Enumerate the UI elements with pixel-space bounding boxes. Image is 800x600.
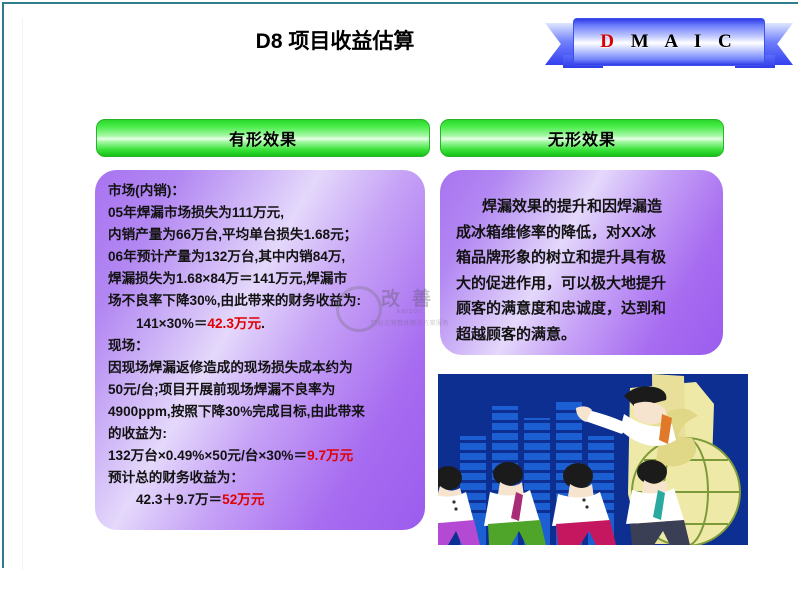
text-line-body: 50元/台;项目开展前现场焊漏不良率为 (108, 382, 335, 397)
text-line-body: 的收益为: (108, 426, 167, 441)
header-pill-intangible-label: 无形效果 (548, 126, 616, 150)
text-line: 06年预计产量为132万台,其中内销84万, (108, 246, 365, 268)
text-line: 预计总的财务收益为： (108, 467, 365, 489)
highlighted-value: 42.3万元 (207, 316, 261, 331)
slide-frame-left-border (2, 2, 4, 568)
intangible-effects-panel: 焊漏效果的提升和因焊漏造成冰箱维修率的降低，对XX冰箱品牌形象的树立和提升具有极… (440, 170, 723, 355)
text-line-body: 预计总的财务收益为： (108, 470, 244, 485)
dmaic-label: D M A I C (600, 31, 737, 53)
text-line: 大的促进作用，可以极大地提升 (456, 271, 708, 297)
text-line-body: 05年焊漏市场损失为111万元, (108, 205, 284, 220)
text-line: 焊漏效果的提升和因焊漏造 (456, 194, 708, 220)
text-line-body: 因现场焊漏返修造成的现场损失成本约为 (108, 360, 353, 375)
highlighted-value: 9.7万元 (307, 448, 353, 463)
text-line: 50元/台;项目开展前现场焊漏不良率为 (108, 379, 365, 401)
header-pill-tangible[interactable]: 有形效果 (96, 119, 430, 157)
text-line: 因现场焊漏返修造成的现场损失成本约为 (108, 357, 365, 379)
text-line: 超越顾客的满意。 (456, 322, 708, 348)
text-line: 成冰箱维修率的降低，对XX冰 (456, 220, 708, 246)
text-line-body: 132万台×0.49%×50元/台×30%＝ (108, 448, 307, 463)
text-line: 市场(内销)： (108, 180, 365, 202)
text-line-body: 06年预计产量为132万台,其中内销84万, (108, 249, 345, 264)
text-line-body: 内销产量为66万台,平均单台损失1.68元； (108, 227, 357, 242)
slide-frame-top-border (2, 2, 798, 4)
text-line-body: 现场： (108, 338, 149, 353)
text-line-body: 顾客的满意度和忠诚度，达到和 (456, 300, 666, 317)
text-line-body: 超越顾客的满意。 (456, 326, 576, 343)
slide-canvas: D8 项目收益估算 D M A I C 有形效果 无形效果 市场(内销)：05年… (0, 0, 800, 600)
text-line-body: 141×30%＝ (136, 316, 207, 331)
text-line-body: 42.3＋9.7万＝ (136, 492, 222, 507)
text-line: 焊漏损失为1.68×84万＝141万元,焊漏市 (108, 268, 365, 290)
text-line: 的收益为: (108, 423, 365, 445)
text-line: 05年焊漏市场损失为111万元, (108, 202, 365, 224)
tangible-effects-text: 市场(内销)：05年焊漏市场损失为111万元,内销产量为66万台,平均单台损失1… (108, 180, 365, 511)
text-line: 箱品牌形象的树立和提升具有极 (456, 245, 708, 271)
text-line: 场不良率下降30%,由此带来的财务收益为: (108, 290, 365, 312)
text-line: 4900ppm,按照下降30%完成目标,由此带来 (108, 401, 365, 423)
text-line: 顾客的满意度和忠诚度，达到和 (456, 296, 708, 322)
ribbon-body: D M A I C (573, 18, 765, 66)
text-line-suffix: . (261, 316, 265, 331)
text-line-body: 箱品牌形象的树立和提升具有极 (456, 249, 666, 266)
text-line-body: 大的促进作用，可以极大地提升 (456, 275, 666, 292)
business-illustration (438, 374, 748, 545)
text-line: 42.3＋9.7万＝52万元 (108, 489, 365, 511)
header-pill-intangible[interactable]: 无形效果 (440, 119, 724, 157)
text-line-body: 成冰箱维修率的降低，对XX冰 (456, 224, 656, 241)
text-line: 内销产量为66万台,平均单台损失1.68元； (108, 224, 365, 246)
page-title: D8 项目收益估算 (170, 25, 500, 55)
dmaic-letter-d: D (600, 31, 620, 52)
text-line-body: 市场(内销)： (108, 183, 185, 198)
tangible-effects-panel: 市场(内销)：05年焊漏市场损失为111万元,内销产量为66万台,平均单台损失1… (95, 170, 425, 530)
header-pill-tangible-label: 有形效果 (229, 126, 297, 150)
text-line: 现场： (108, 335, 365, 357)
text-line-body: 焊漏损失为1.68×84万＝141万元,焊漏市 (108, 271, 347, 286)
text-line-body: 焊漏效果的提升和因焊漏造 (482, 198, 662, 215)
text-line: 132万台×0.49%×50元/台×30%＝9.7万元 (108, 445, 365, 467)
dmaic-ribbon: D M A I C (545, 17, 793, 71)
slide-frame-inner-line (22, 18, 23, 570)
intangible-effects-text: 焊漏效果的提升和因焊漏造成冰箱维修率的降低，对XX冰箱品牌形象的树立和提升具有极… (456, 194, 708, 347)
text-line-body: 场不良率下降30%,由此带来的财务收益为: (108, 293, 361, 308)
text-line: 141×30%＝42.3万元. (108, 313, 365, 335)
text-line-body: 4900ppm,按照下降30%完成目标,由此带来 (108, 404, 365, 419)
dmaic-letters-rest: M A I C (620, 31, 738, 52)
highlighted-value: 52万元 (222, 492, 264, 507)
business-illustration-svg (438, 374, 748, 545)
